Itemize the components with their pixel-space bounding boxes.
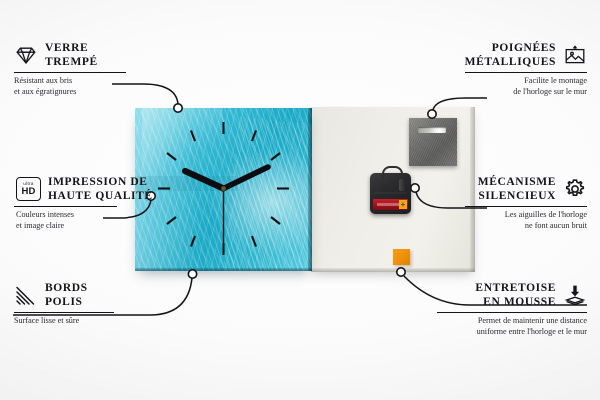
- callout-impression-haute-qualite: ultra HD IMPRESSION DE HAUTE QUALITÉ Cou…: [16, 175, 126, 231]
- callout-mecanisme-silencieux: MÉCANISME SILENCIEUX Les aiguilles de l'…: [465, 175, 587, 231]
- callout-desc-line1: Les aiguilles de l'horloge: [465, 210, 587, 221]
- callout-rule: [14, 312, 114, 313]
- callout-title-line2: HAUTE QUALITÉ: [48, 189, 153, 203]
- gear-icon: [563, 177, 587, 201]
- callout-verre-trempe: VERRE TREMPÉ Résistant aux bris et aux é…: [14, 41, 114, 97]
- callout-rule: [14, 72, 126, 73]
- metal-hanger-plate: [409, 118, 457, 166]
- callout-entretoise-en-mousse: ENTRETOISE EN MOUSSE Permet de maintenir…: [437, 281, 587, 337]
- callout-title-text: BORDS POLIS: [45, 281, 88, 309]
- diamond-icon: [14, 43, 38, 67]
- foam-spacer: [393, 249, 410, 265]
- hanging-picture-frame-icon: [563, 43, 587, 67]
- battery: +: [373, 199, 408, 210]
- callout-title-line1: MÉCANISME: [478, 175, 556, 189]
- minute-hand: [224, 167, 269, 189]
- callout-title-line2: POLIS: [45, 295, 88, 309]
- callout-title-row: ENTRETOISE EN MOUSSE: [437, 281, 587, 309]
- badge-hd-text: HD: [21, 187, 35, 197]
- callout-desc-line1: Facilite le montage: [465, 76, 587, 87]
- callout-title-row: POIGNÉES MÉTALLIQUES: [465, 41, 587, 69]
- callout-title-row: BORDS POLIS: [14, 281, 114, 309]
- hour-hand: [185, 171, 224, 189]
- callout-title-line2: SILENCIEUX: [478, 189, 556, 203]
- callout-title-line1: POIGNÉES: [465, 41, 556, 55]
- back-panel-bottom-edge: [311, 268, 475, 272]
- callout-rule: [437, 312, 587, 313]
- callout-title-line2: MÉTALLIQUES: [465, 55, 556, 69]
- clock-dial: [135, 108, 312, 271]
- infographic-canvas: +: [0, 0, 600, 400]
- polished-edge-lines-icon: [14, 283, 38, 307]
- callout-title-row: ultra HD IMPRESSION DE HAUTE QUALITÉ: [16, 175, 126, 203]
- callout-desc-line2: ne font aucun bruit: [465, 221, 587, 232]
- quartz-movement: +: [370, 173, 411, 214]
- front-panel-bottom-edge: [135, 268, 312, 271]
- callout-rule: [465, 206, 587, 207]
- callout-desc-line1: Couleurs intenses: [16, 210, 126, 221]
- callout-title-line1: ENTRETOISE: [475, 281, 556, 295]
- callout-title-text: MÉCANISME SILENCIEUX: [478, 175, 556, 203]
- callout-desc-line1: Résistant aux bris: [14, 76, 114, 87]
- hanger-plate-slot: [418, 127, 446, 133]
- callout-desc-line2: uniforme entre l'horloge et le mur: [437, 327, 587, 338]
- arrow-down-onto-pad-icon: [563, 283, 587, 307]
- callout-title-row: VERRE TREMPÉ: [14, 41, 114, 69]
- callout-title-line1: BORDS: [45, 281, 88, 295]
- callout-title-row: MÉCANISME SILENCIEUX: [465, 175, 587, 203]
- callout-title-line2: TREMPÉ: [45, 55, 98, 69]
- movement-hanger-loop: [382, 166, 403, 178]
- callout-desc-line2: de l'horloge sur le mur: [465, 87, 587, 98]
- ultra-hd-badge-icon: ultra HD: [16, 177, 41, 201]
- callout-title-line1: VERRE: [45, 41, 98, 55]
- callout-desc-line1: Permet de maintenir une distance: [437, 316, 587, 327]
- callout-rule: [465, 72, 587, 73]
- callout-bords-polis: BORDS POLIS Surface lisse et sûre: [14, 281, 114, 327]
- callout-rule: [14, 206, 117, 207]
- callout-title-text: POIGNÉES MÉTALLIQUES: [465, 41, 556, 69]
- battery-plus-terminal: +: [399, 200, 407, 209]
- callout-title-text: VERRE TREMPÉ: [45, 41, 98, 69]
- callout-poignees-metalliques: POIGNÉES MÉTALLIQUES Facilite le montage…: [465, 41, 587, 97]
- hands-center-cap: [221, 186, 226, 191]
- callout-title-line2: EN MOUSSE: [475, 295, 556, 309]
- front-panel-right-edge: [308, 108, 312, 271]
- callout-title-text: IMPRESSION DE HAUTE QUALITÉ: [48, 175, 153, 203]
- callout-title-text: ENTRETOISE EN MOUSSE: [475, 281, 556, 309]
- callout-desc-line1: Surface lisse et sûre: [14, 316, 114, 327]
- callout-desc-line2: et image claire: [16, 221, 126, 232]
- callout-title-line1: IMPRESSION DE: [48, 175, 153, 189]
- callout-desc-line2: et aux égratignures: [14, 87, 114, 98]
- clock-front-glass-panel: [135, 108, 312, 271]
- movement-time-set-dial: [399, 179, 406, 191]
